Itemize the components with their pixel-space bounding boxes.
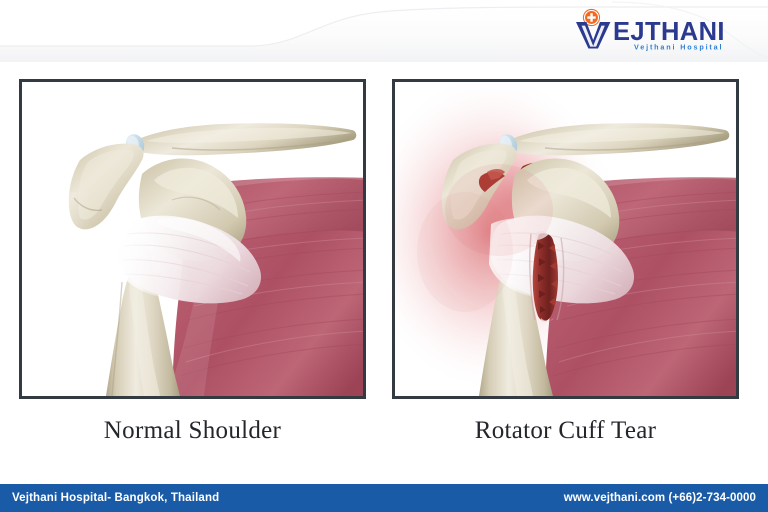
panel-rotator-cuff-tear[interactable] [392,79,739,399]
normal-shoulder-illustration [22,82,363,396]
footer-hospital-location: Vejthani Hospital- Bangkok, Thailand [12,492,219,504]
caption-normal-shoulder: Normal Shoulder [19,414,366,448]
panel-normal-shoulder[interactable] [19,79,366,399]
rotator-cuff-tear-illustration [395,82,736,396]
vejthani-logo-svg: EJTHANI Vejthani Hospital [572,8,752,52]
vejthani-logo[interactable]: EJTHANI Vejthani Hospital [572,8,752,52]
logo-letter-v [576,22,610,49]
page-header: EJTHANI Vejthani Hospital [0,0,768,62]
caption-rotator-cuff-tear: Rotator Cuff Tear [392,414,739,448]
footer-contact-info[interactable]: www.vejthani.com (+66)2-734-0000 [564,492,756,504]
logo-tagline: Vejthani Hospital [634,43,723,52]
page-footer: Vejthani Hospital- Bangkok, Thailand www… [0,484,768,512]
